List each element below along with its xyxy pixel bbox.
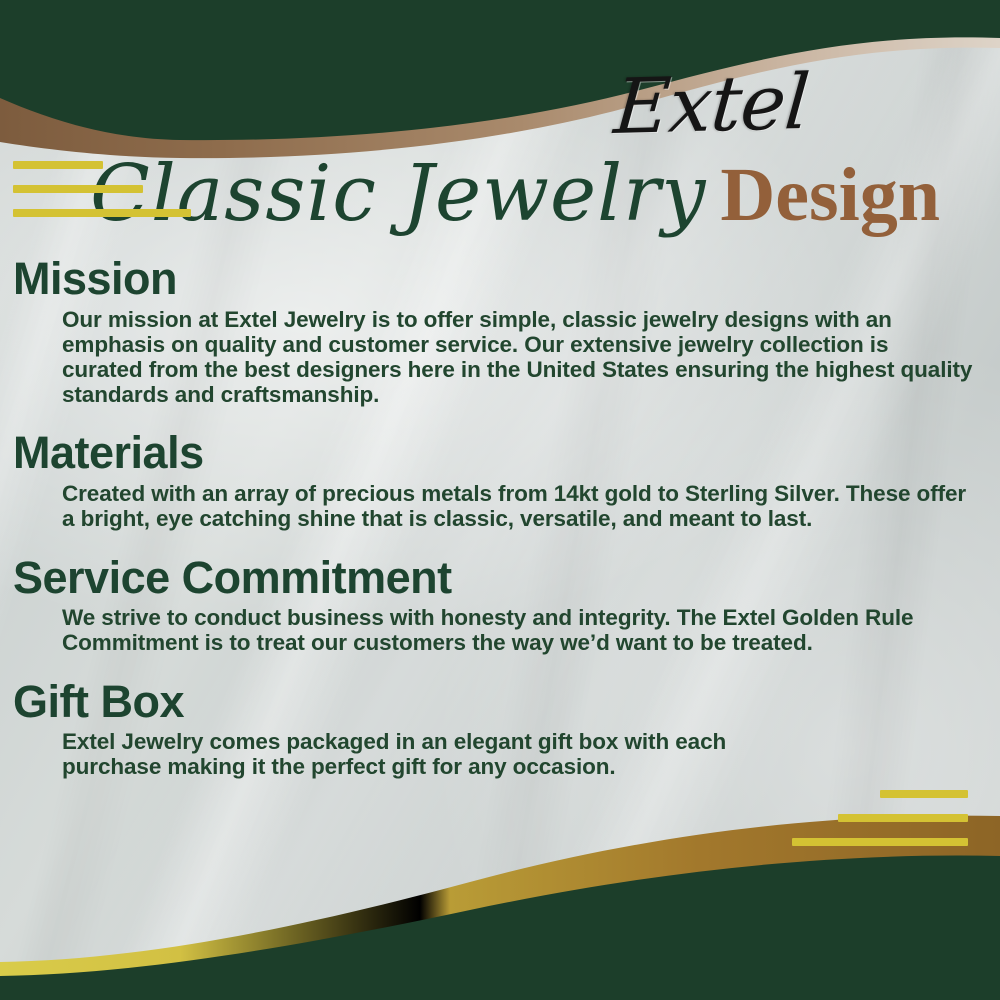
section-heading: Gift Box xyxy=(13,678,973,726)
section-materials: Materials Created with an array of preci… xyxy=(13,429,973,531)
section-body: Created with an array of precious metals… xyxy=(62,481,973,531)
section-body: Our mission at Extel Jewelry is to offer… xyxy=(62,307,973,408)
section-body: Extel Jewelry comes packaged in an elega… xyxy=(62,729,782,779)
poster-canvas: Extel Classic JewelryDesign Mission Our … xyxy=(0,0,1000,1000)
section-heading: Service Commitment xyxy=(13,554,973,602)
rule-bar-long xyxy=(792,838,968,846)
rule-bar-long xyxy=(13,209,191,217)
section-gift-box: Gift Box Extel Jewelry comes packaged in… xyxy=(13,678,973,780)
section-mission: Mission Our mission at Extel Jewelry is … xyxy=(13,255,973,407)
rule-bar-medium xyxy=(13,185,143,193)
section-heading: Materials xyxy=(13,429,973,477)
section-heading: Mission xyxy=(13,255,973,303)
section-service-commitment: Service Commitment We strive to conduct … xyxy=(13,554,973,656)
rule-bar-medium xyxy=(838,814,968,822)
brand-logo-extel: Extel xyxy=(612,63,849,145)
rule-bar-short xyxy=(880,790,968,798)
top-wave-decoration xyxy=(0,0,1000,170)
rule-bar-short xyxy=(13,161,103,169)
content-sections: Mission Our mission at Extel Jewelry is … xyxy=(13,255,973,788)
section-body: We strive to conduct business with hones… xyxy=(62,605,973,655)
decorative-rules-bottom-right xyxy=(792,790,968,846)
decorative-rules-top-left xyxy=(13,161,191,217)
headline-serif-part: Design xyxy=(720,153,940,237)
